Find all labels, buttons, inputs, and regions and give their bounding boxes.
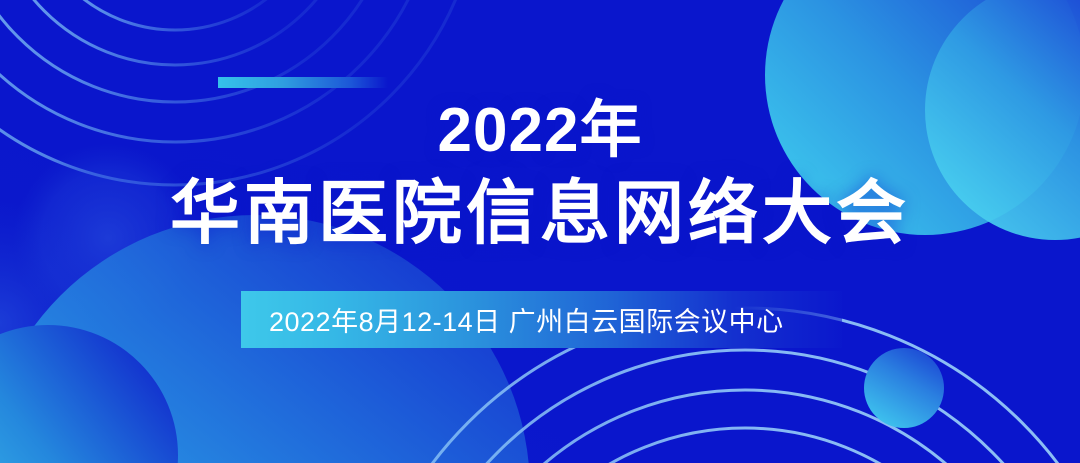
- subtitle-bar: 2022年8月12-14日 广州白云国际会议中心: [241, 291, 842, 348]
- title-year: 2022年: [0, 100, 1080, 162]
- banner-content: 2022年 华南医院信息网络大会 2022年8月12-14日 广州白云国际会议中…: [0, 0, 1080, 463]
- accent-bar: [218, 77, 388, 88]
- conference-banner: 2022年 华南医院信息网络大会 2022年8月12-14日 广州白云国际会议中…: [0, 0, 1080, 463]
- subtitle-text: 2022年8月12-14日 广州白云国际会议中心: [269, 300, 784, 339]
- page-title: 华南医院信息网络大会: [0, 178, 1080, 248]
